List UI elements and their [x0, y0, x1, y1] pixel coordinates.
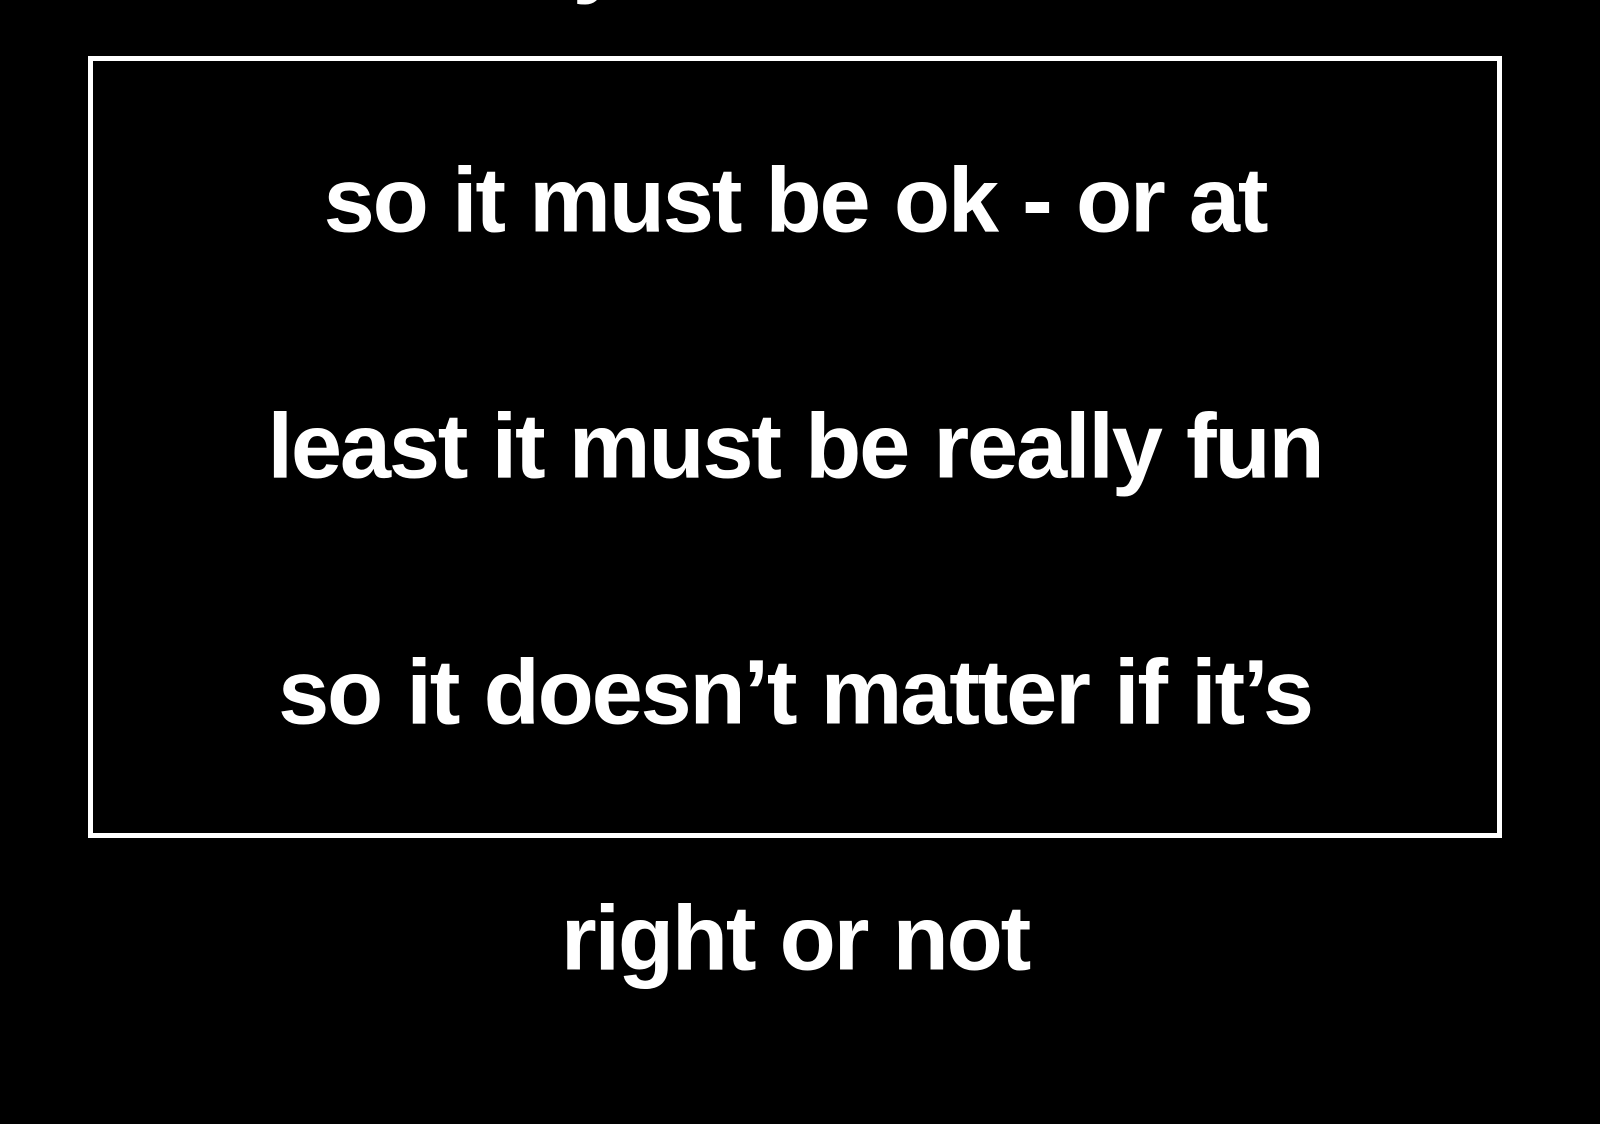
quote-line-2: so it must be ok - or at — [107, 140, 1483, 263]
slide-border-frame: 1. Everyone else does it, so it must be … — [88, 56, 1502, 838]
quote-line-4: so it doesn’t matter if it’s — [107, 632, 1483, 755]
quote-line-5: right or not — [107, 878, 1483, 1001]
quote-line-1: 1. Everyone else does it, — [107, 0, 1483, 17]
quote-line-3: least it must be really fun — [107, 386, 1483, 509]
slide-canvas: 1. Everyone else does it, so it must be … — [0, 0, 1600, 900]
quote-text-block: 1. Everyone else does it, so it must be … — [93, 0, 1497, 1124]
